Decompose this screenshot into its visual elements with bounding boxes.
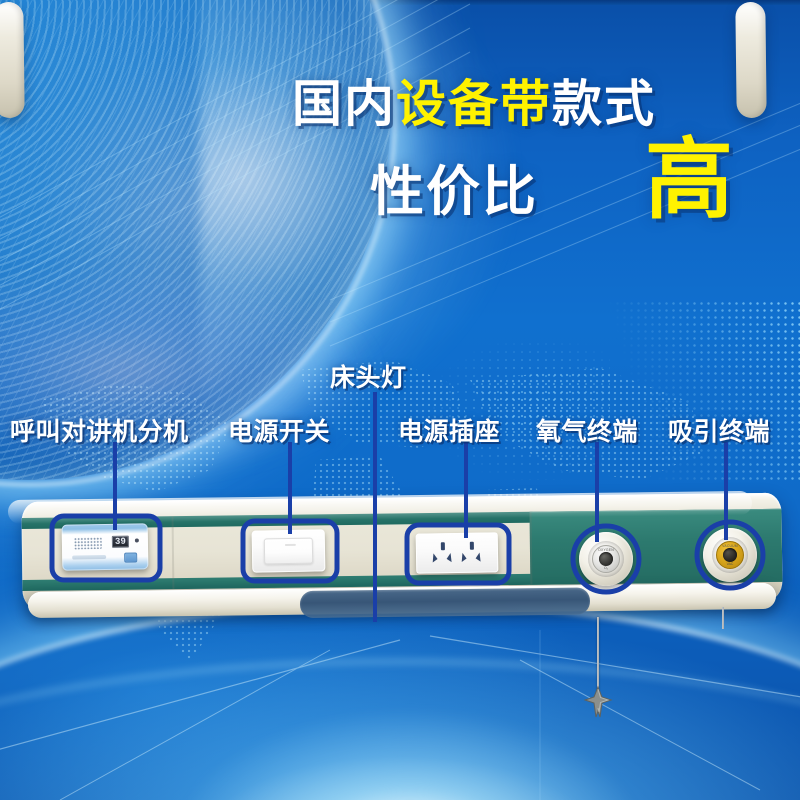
suction-sub-text: VAC bbox=[715, 562, 745, 567]
callout-labels: 呼叫对讲机分机 电源开关 床头灯 电源插座 氧气终端 吸引终端 bbox=[0, 350, 800, 460]
pull-cord-short bbox=[722, 607, 724, 629]
intercom-led-icon bbox=[135, 538, 139, 542]
power-socket[interactable] bbox=[416, 532, 499, 573]
socket-pin-vertical-icon bbox=[470, 542, 474, 550]
headline-block: 国内设备带款式 性价比 高 bbox=[0, 76, 800, 246]
callout-label-power-socket: 电源插座 bbox=[398, 412, 500, 448]
socket-pin-right-icon bbox=[447, 553, 456, 562]
intercom-call-button[interactable] bbox=[124, 552, 137, 562]
callout-label-suction-terminal: 吸引终端 bbox=[668, 412, 770, 448]
pull-cord-handle[interactable] bbox=[583, 685, 613, 719]
headline-emphasis-word: 高 bbox=[645, 134, 733, 226]
headline-line2-part1: 性价比 bbox=[370, 162, 538, 222]
headline-line1-part3: 款式 bbox=[552, 76, 656, 132]
socket-outlet-right[interactable] bbox=[458, 541, 486, 563]
headline-line1-part1: 国内 bbox=[292, 76, 396, 132]
oxygen-terminal[interactable]: OXYGEN O₂ bbox=[579, 532, 633, 586]
callout-label-intercom: 呼叫对讲机分机 bbox=[10, 412, 189, 448]
headline-line-1: 国内设备带款式 bbox=[292, 76, 656, 132]
headline-line-2: 性价比 bbox=[370, 162, 538, 222]
suction-terminal[interactable]: VACUUM VAC bbox=[703, 528, 757, 582]
oxygen-port-hole[interactable] bbox=[599, 552, 613, 566]
oxygen-sub-text: O₂ bbox=[591, 566, 621, 571]
socket-pin-vertical-icon bbox=[441, 542, 445, 550]
suction-port-hole[interactable] bbox=[723, 548, 737, 562]
headline-line1-part2: 设备带 bbox=[396, 76, 552, 132]
callout-label-oxygen-terminal: 氧气终端 bbox=[536, 412, 638, 448]
socket-pin-left-icon bbox=[458, 553, 467, 562]
callout-label-bedside-lamp: 床头灯 bbox=[330, 358, 407, 394]
banner-canvas: 国内设备带款式 性价比 高 呼叫对讲机分机 电源开关 床头灯 电源插座 氧气终端… bbox=[0, 0, 800, 800]
intercom-speaker-grille bbox=[74, 537, 102, 549]
nurse-call-intercom[interactable]: 39 bbox=[62, 523, 149, 570]
power-switch[interactable] bbox=[252, 529, 326, 572]
callout-label-power-switch: 电源开关 bbox=[228, 412, 330, 448]
switch-rocker[interactable] bbox=[264, 538, 313, 565]
pull-cord[interactable] bbox=[597, 617, 599, 693]
socket-pin-left-icon bbox=[429, 553, 438, 562]
intercom-display: 39 bbox=[112, 536, 129, 548]
switch-mark-icon bbox=[285, 544, 296, 546]
socket-outlet-left[interactable] bbox=[429, 542, 457, 564]
panel-rail-glass-insert bbox=[300, 587, 590, 618]
intercom-slot bbox=[72, 555, 106, 560]
socket-pin-right-icon bbox=[476, 553, 485, 562]
